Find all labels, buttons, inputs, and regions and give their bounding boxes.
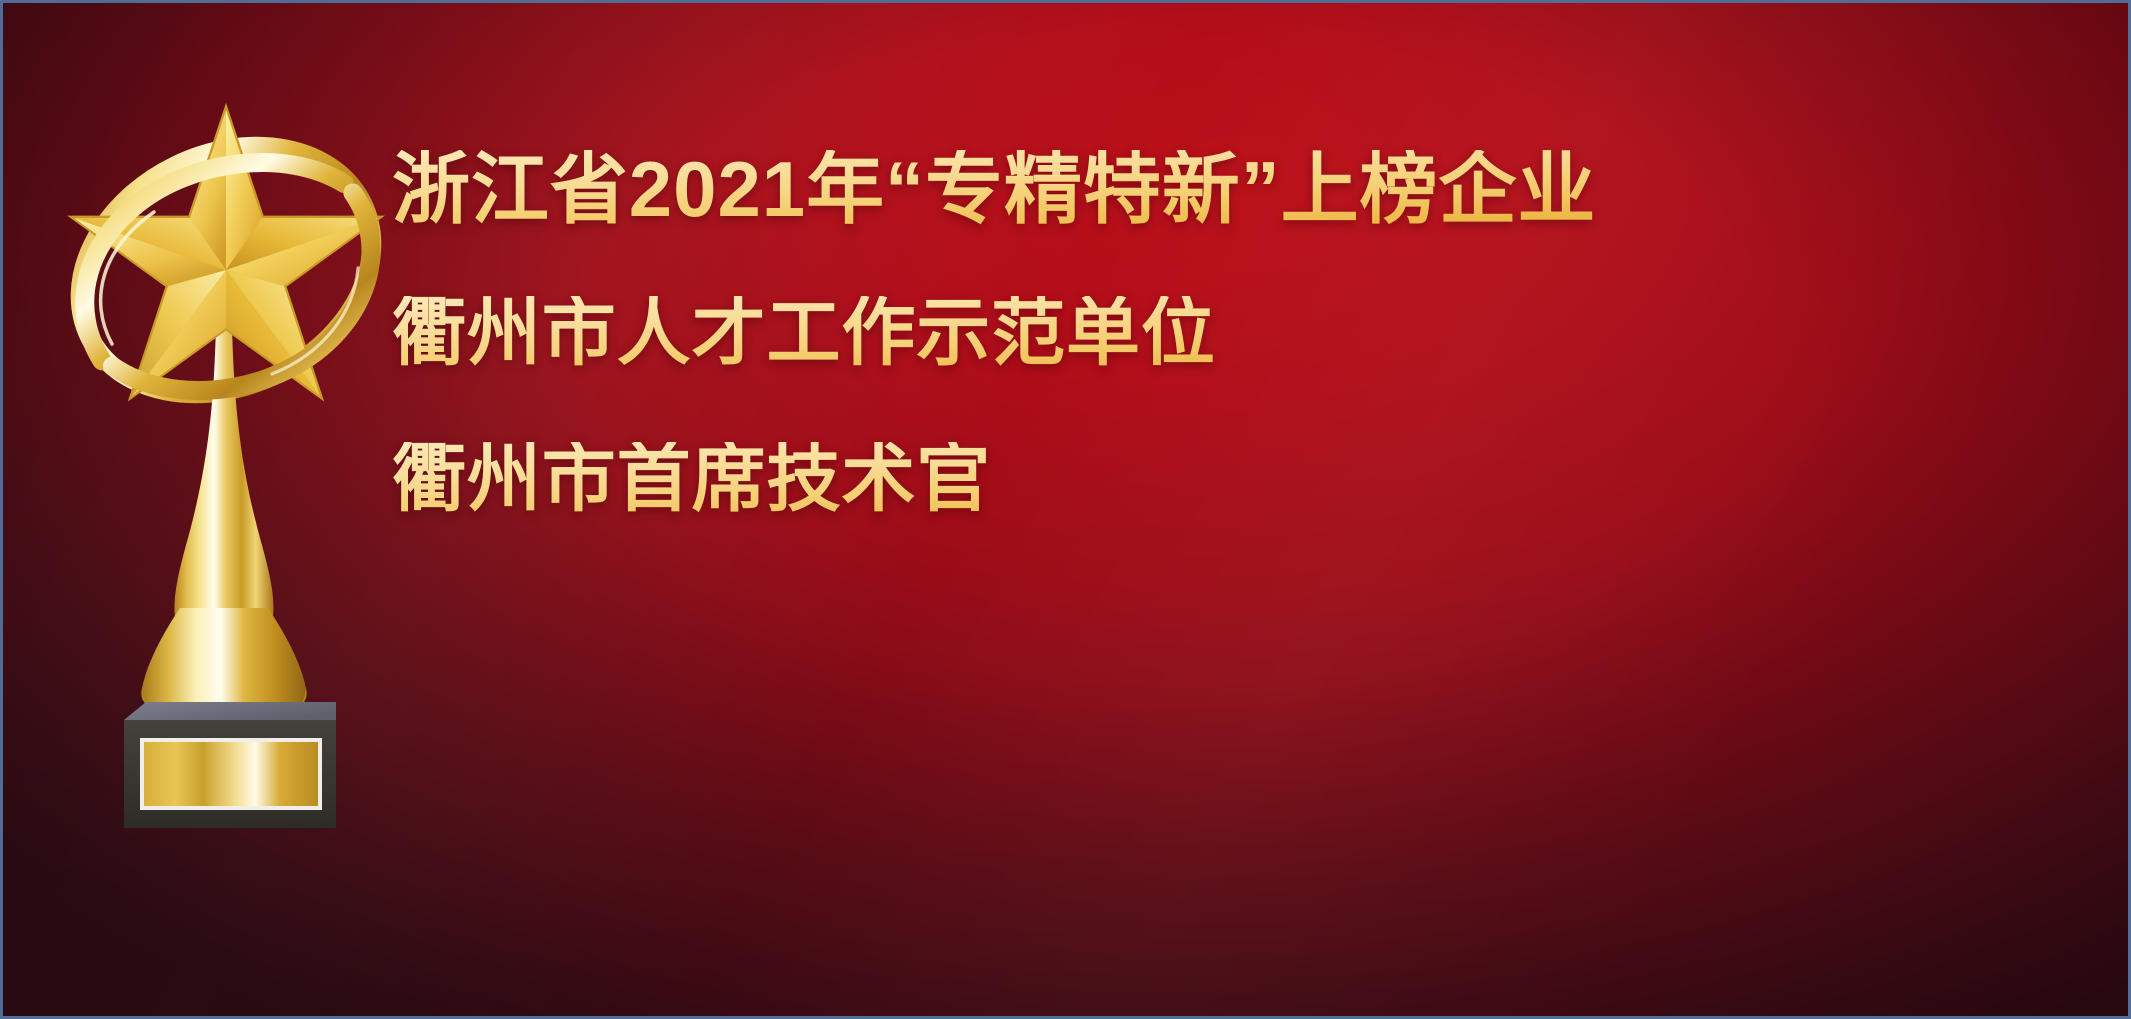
gold-star-trophy-icon (58, 52, 398, 852)
award-banner: 浙江省2021年“专精特新”上榜企业 衢州市人才工作示范单位 衢州市首席技术官 (0, 0, 2131, 1019)
headline-line-2: 衢州市人才工作示范单位 (392, 296, 2052, 370)
headline-group: 浙江省2021年“专精特新”上榜企业 衢州市人才工作示范单位 衢州市首席技术官 (392, 150, 2052, 516)
headline-line-3: 衢州市首席技术官 (392, 442, 2052, 516)
trophy-base (124, 702, 336, 828)
headline-line-1: 浙江省2021年“专精特新”上榜企业 (392, 150, 2052, 228)
